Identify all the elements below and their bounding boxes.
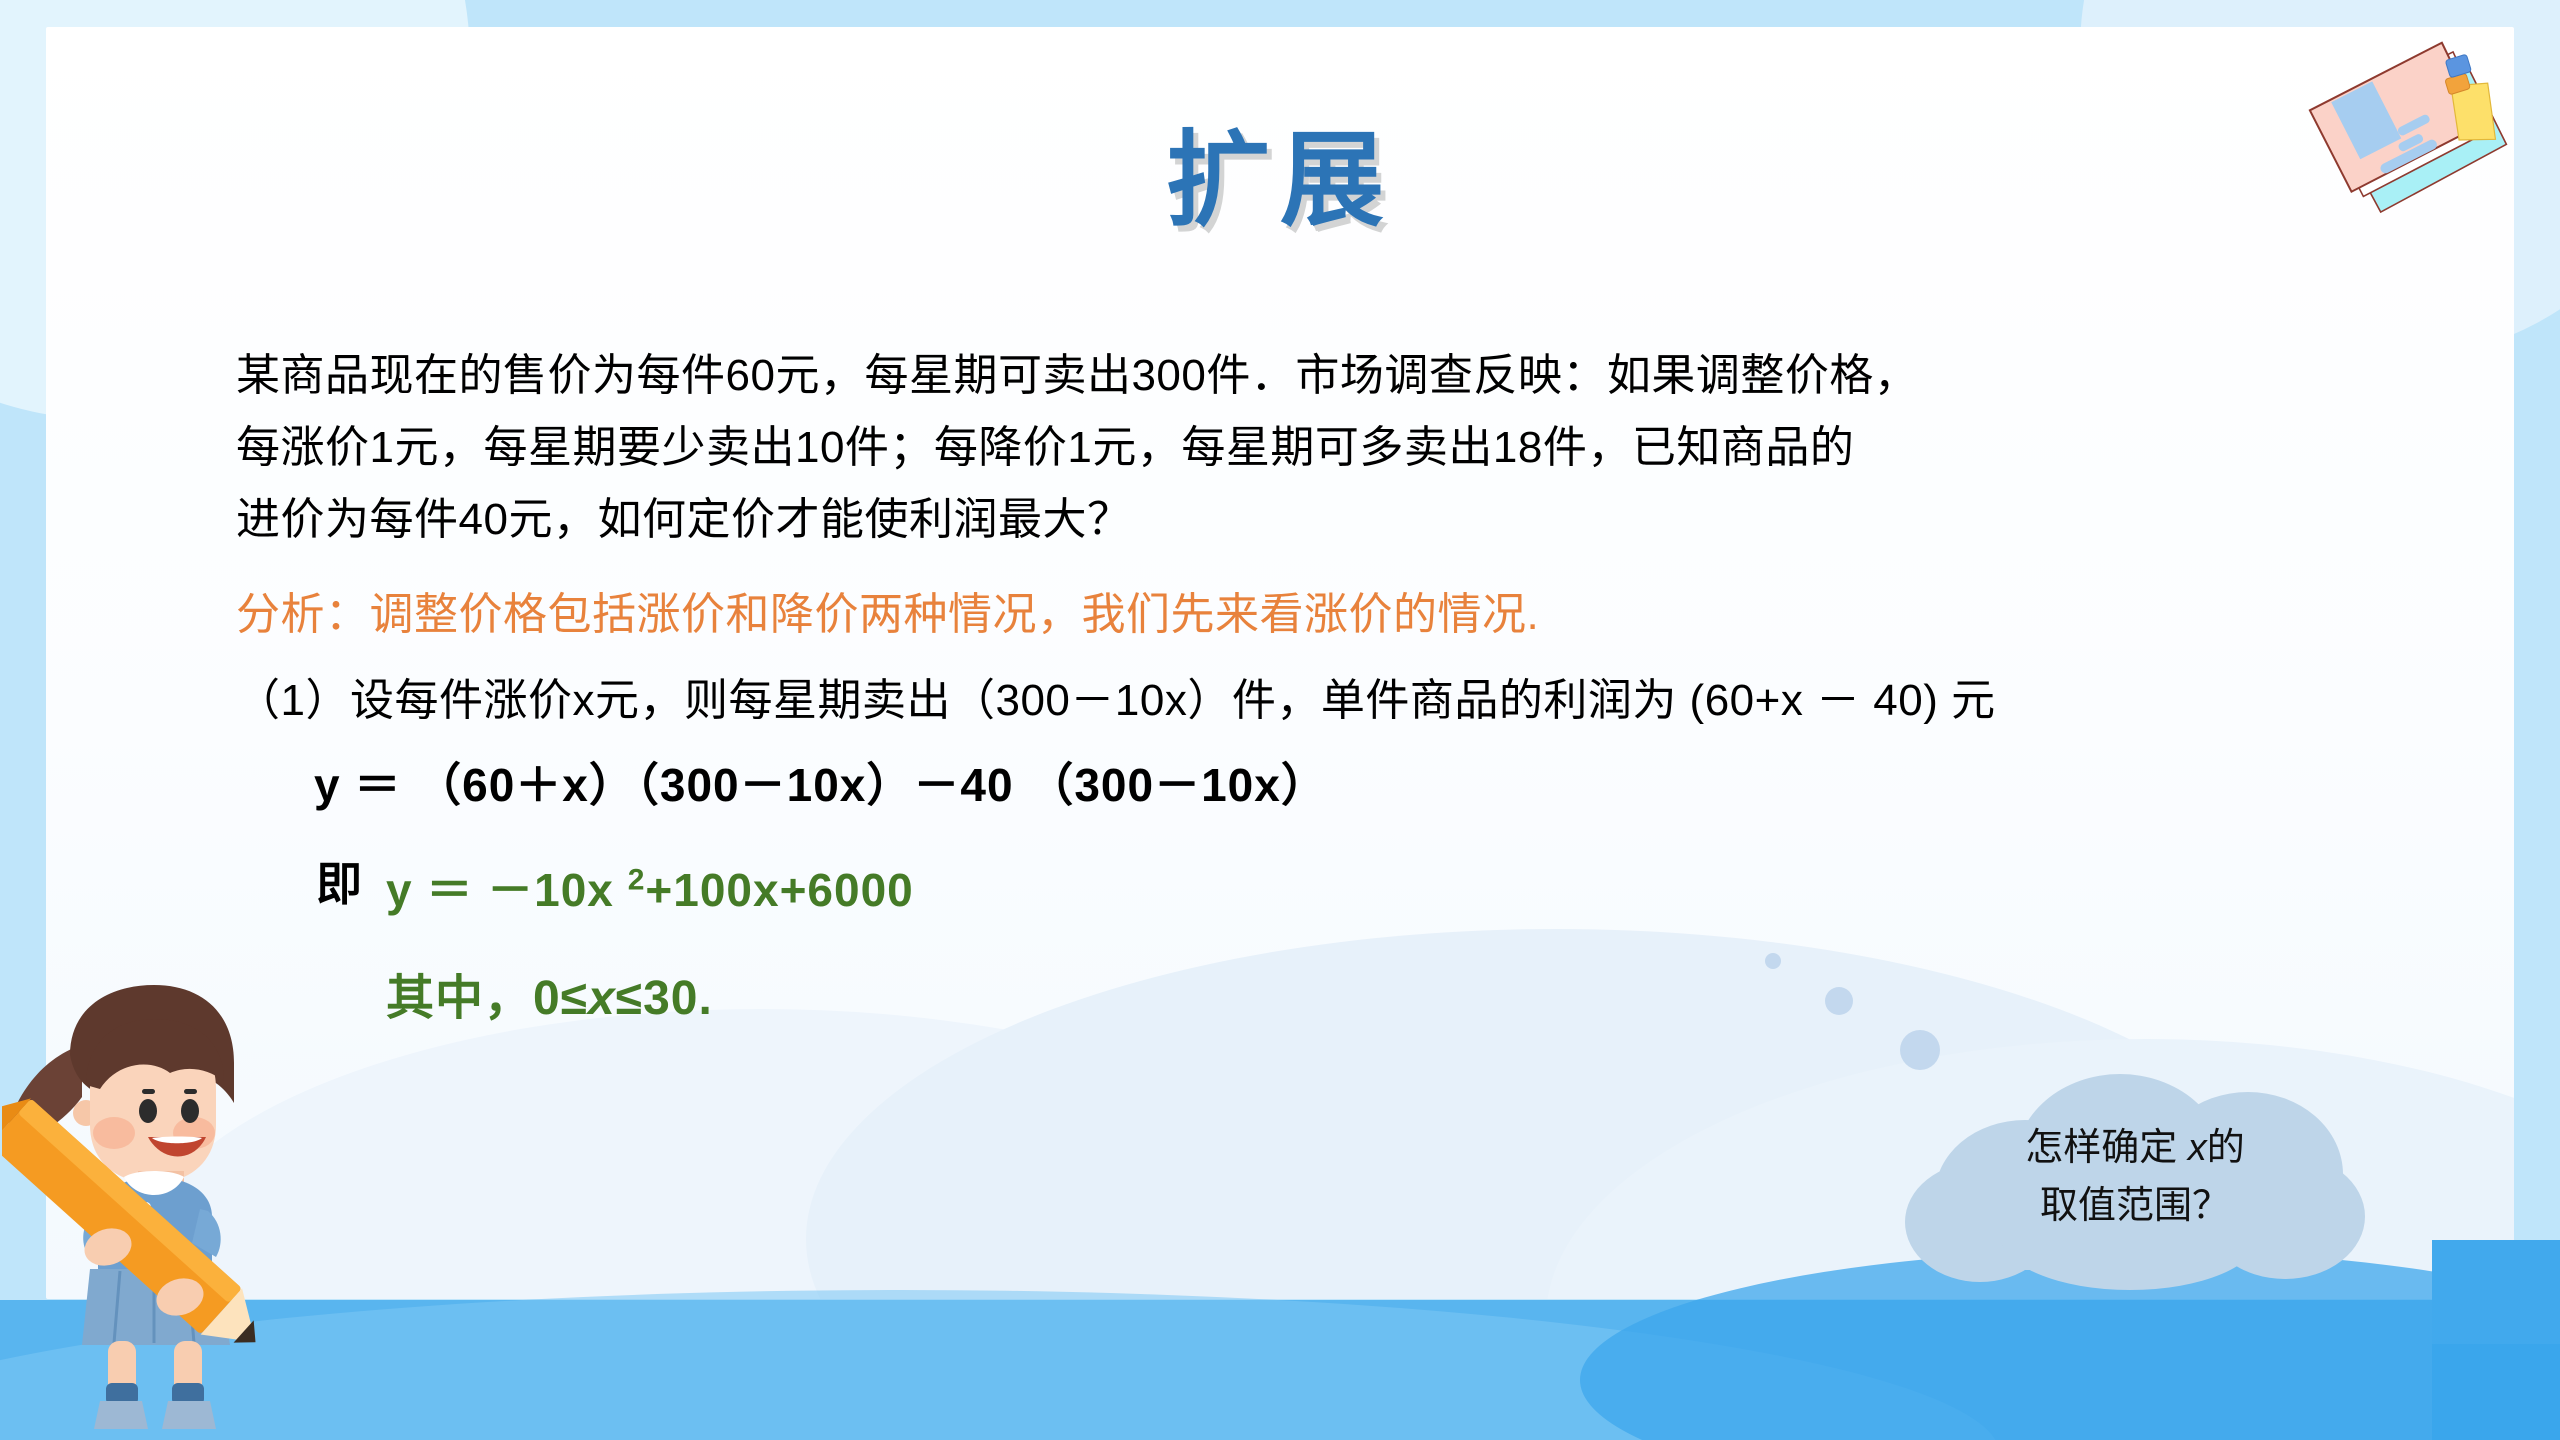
step-one-text: （1）设每件涨价x元，则每星期卖出（300－10x）件，单件商品的利润为 (60… — [236, 670, 2396, 732]
thought-line1-prefix: 怎样确定 — [2025, 1127, 2188, 1169]
equation-expanded: y ＝ （60＋x）（300－10x）－40 （300－10x） — [314, 750, 1614, 820]
thought-line1-variable: x — [2188, 1127, 2207, 1169]
problem-line-3: 进价为每件40元，如何定价才能使利润最大？ — [236, 484, 2396, 556]
domain-prefix: 其中，0≤ — [386, 972, 588, 1025]
bottom-wave-band — [0, 1300, 2560, 1440]
equation-simplified-suffix: +100x+6000 — [645, 864, 913, 916]
page-title: 扩展 — [0, 95, 2560, 246]
domain-variable: x — [588, 972, 616, 1025]
speech-trail-dot-small — [1765, 953, 1781, 969]
domain-suffix: ≤30. — [616, 972, 713, 1025]
therefore-label: 即 — [316, 848, 362, 914]
speech-trail-dot-medium — [1825, 987, 1853, 1015]
girl-illustration — [2, 985, 302, 1440]
thought-bubble-line-2: 取值范围？ — [2040, 1177, 2230, 1235]
equation-simplified: y ＝ －10x 2+100x+6000 — [386, 854, 914, 920]
thought-line1-suffix: 的 — [2207, 1127, 2245, 1169]
problem-line-1: 某商品现在的售价为每件60元，每星期可卖出300件．市场调查反映：如果调整价格， — [236, 340, 2396, 412]
domain-constraint: 其中，0≤x≤30. — [386, 958, 713, 1028]
slide-stage: 扩展 — [0, 0, 2560, 1440]
equation-exponent: 2 — [628, 864, 646, 897]
thought-bubble: 怎样确定 x的 取值范围？ — [1905, 1062, 2365, 1292]
thought-bubble-text: 怎样确定 x的 取值范围？ — [1905, 1062, 2365, 1292]
slide-content: 某商品现在的售价为每件60元，每星期可卖出300件．市场调查反映：如果调整价格，… — [236, 340, 2396, 986]
corner-accent-block-secondary — [2432, 1240, 2560, 1344]
equation-simplified-prefix: y ＝ －10x — [386, 864, 628, 916]
books-illustration — [2280, 6, 2520, 216]
thought-bubble-line-1: 怎样确定 x的 — [2025, 1119, 2245, 1177]
analysis-text: 分析：调整价格包括涨价和降价两种情况，我们先来看涨价的情况. — [236, 584, 2396, 646]
problem-line-2: 每涨价1元，每星期要少卖出10件；每降价1元，每星期可多卖出18件，已知商品的 — [236, 412, 2396, 484]
equations-group: y ＝ （60＋x）（300－10x）－40 （300－10x） 即 y ＝ －… — [236, 736, 2396, 986]
problem-statement: 某商品现在的售价为每件60元，每星期可卖出300件．市场调查反映：如果调整价格，… — [236, 340, 2396, 556]
